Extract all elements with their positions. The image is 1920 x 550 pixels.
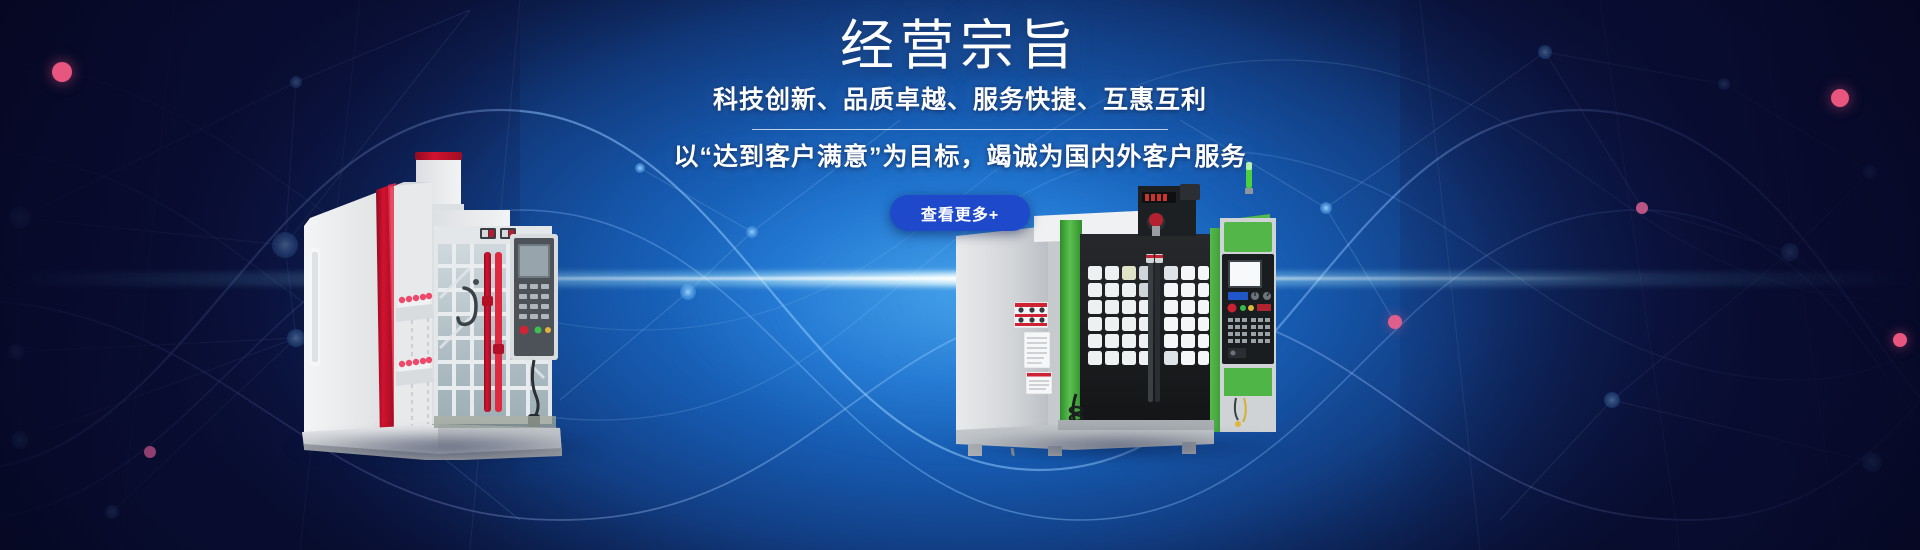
view-more-button[interactable]: 查看更多+ [890,195,1030,231]
promo-banner: 经营宗旨 科技创新、品质卓越、服务快捷、互惠互利 以“达到客户满意”为目标，竭诚… [0,0,1920,550]
cnc-machine-left [288,148,598,458]
pink-dot [1388,315,1402,329]
pink-dot [1831,89,1849,107]
pink-dot [1893,333,1907,347]
pink-dot [52,62,72,82]
pink-dot [1636,202,1648,214]
pink-dot [144,446,156,458]
